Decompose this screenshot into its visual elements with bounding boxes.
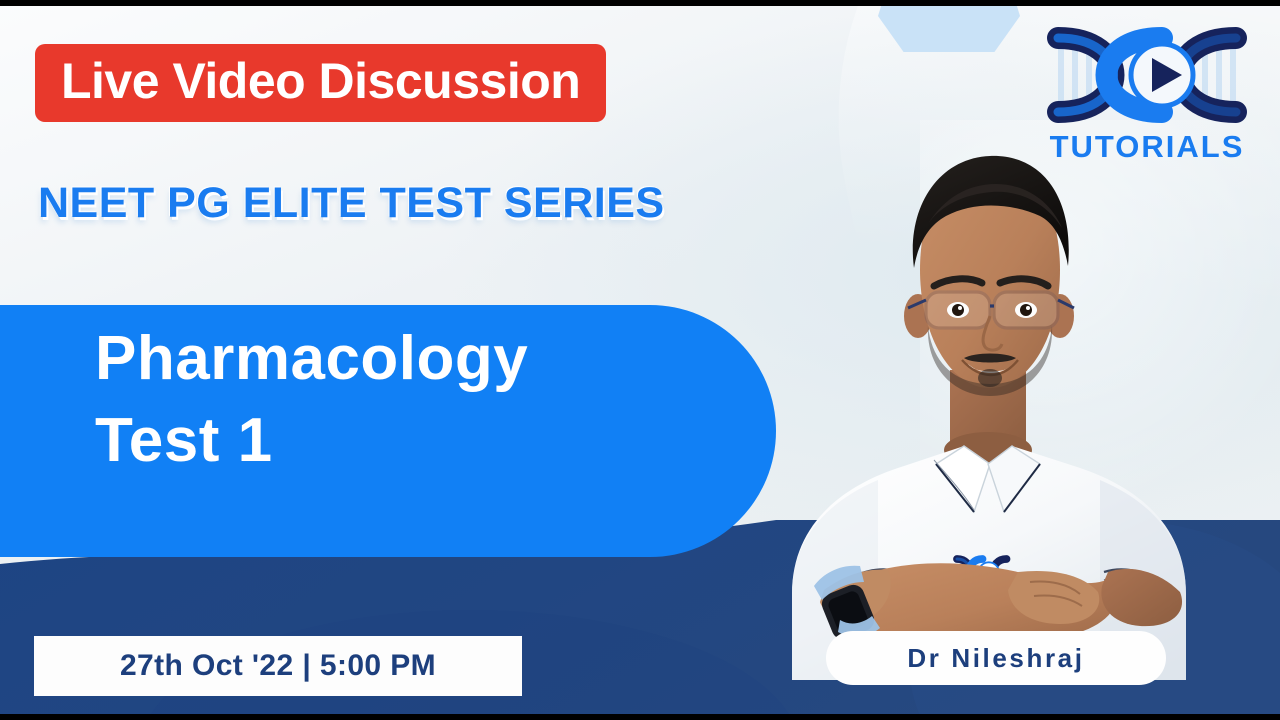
schedule-label: 27th Oct '22 | 5:00 PM [120, 649, 436, 683]
hexagon-shape-icon [878, 0, 1020, 52]
schedule-badge: 27th Oct '22 | 5:00 PM [34, 636, 522, 696]
letterbox-bottom [0, 714, 1280, 720]
live-video-discussion-badge: Live Video Discussion [35, 44, 606, 122]
thumbnail-canvas: TUTORIALS [0, 0, 1280, 720]
brand-logo: TUTORIALS [1036, 22, 1258, 162]
presenter-name: Dr Nileshraj [907, 643, 1084, 674]
letterbox-top [0, 0, 1280, 6]
brand-wordmark: TUTORIALS [1036, 131, 1258, 162]
presenter-photo: TUTORIALS [768, 120, 1238, 680]
dna-helix-play-icon [1036, 22, 1258, 130]
live-badge-label: Live Video Discussion [61, 56, 580, 106]
topic-line-1: Pharmacology [95, 324, 528, 393]
series-title: NEET PG ELITE TEST SERIES [38, 182, 665, 225]
topic-title: Pharmacology Test 1 [95, 318, 528, 482]
presenter-name-badge: Dr Nileshraj [826, 631, 1166, 685]
topic-line-2: Test 1 [95, 400, 528, 482]
